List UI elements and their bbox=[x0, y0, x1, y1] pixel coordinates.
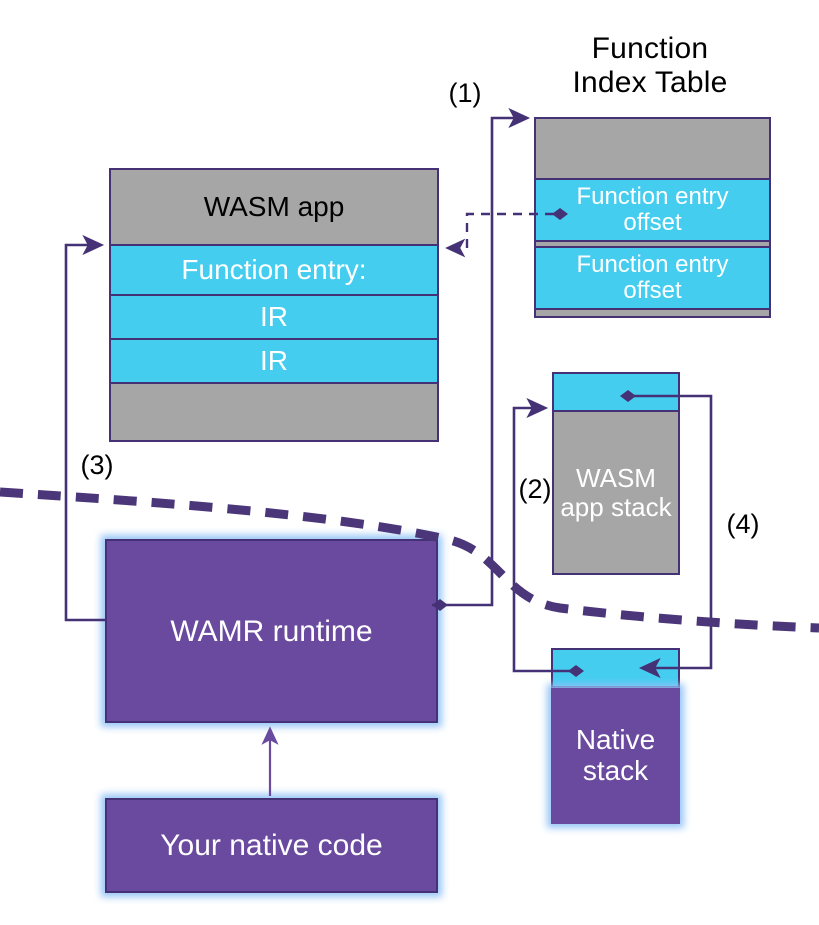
function-index-table-separator-2 bbox=[534, 308, 771, 318]
function-index-table-entry-1: Function entry offset bbox=[534, 180, 771, 240]
function-index-table-entry-label: Function entry offset bbox=[576, 184, 728, 237]
wasm-app-header-label: WASM app bbox=[204, 192, 345, 223]
wasm-app-row-label: IR bbox=[260, 346, 288, 377]
connector-3-wamr-to-wasm-app bbox=[66, 245, 105, 620]
native-stack-label: Native stack bbox=[576, 725, 655, 787]
native-stack-body: Native stack bbox=[551, 688, 680, 824]
wasm-app-row-function-entry: Function entry: bbox=[109, 246, 439, 296]
diagram-canvas: Function Index Table (1) (2) (3) (4) WAS… bbox=[0, 0, 819, 925]
wasm-app-row-label: Function entry: bbox=[181, 255, 366, 286]
wamr-runtime-label: WAMR runtime bbox=[170, 615, 372, 648]
wasm-app-row-ir-1: IR bbox=[109, 296, 439, 340]
step-label-1: (1) bbox=[430, 78, 500, 108]
step-label-4: (4) bbox=[712, 509, 774, 539]
connector-1-wamr-to-index-table bbox=[432, 118, 527, 605]
your-native-code-box: Your native code bbox=[105, 798, 438, 893]
wamr-runtime-box: WAMR runtime bbox=[105, 539, 438, 723]
function-index-table-title: Function Index Table bbox=[500, 32, 800, 99]
wasm-app-header: WASM app bbox=[109, 168, 439, 246]
function-index-table-separator-1 bbox=[534, 240, 771, 248]
wasm-app-stack-label: WASM app stack bbox=[560, 464, 671, 521]
wasm-app-row-label: IR bbox=[260, 302, 288, 333]
wasm-app-stack-top-frame bbox=[552, 372, 680, 412]
step-label-3: (3) bbox=[66, 450, 128, 480]
function-index-table-header bbox=[534, 117, 771, 180]
wasm-app-row-ir-2: IR bbox=[109, 340, 439, 384]
wasm-app-footer bbox=[109, 384, 439, 442]
function-index-table-entry-2: Function entry offset bbox=[534, 248, 771, 308]
your-native-code-label: Your native code bbox=[160, 829, 382, 862]
wasm-app-stack-body: WASM app stack bbox=[552, 412, 680, 575]
function-index-table-entry-label: Function entry offset bbox=[576, 252, 728, 305]
native-stack-top-frame bbox=[551, 648, 680, 688]
